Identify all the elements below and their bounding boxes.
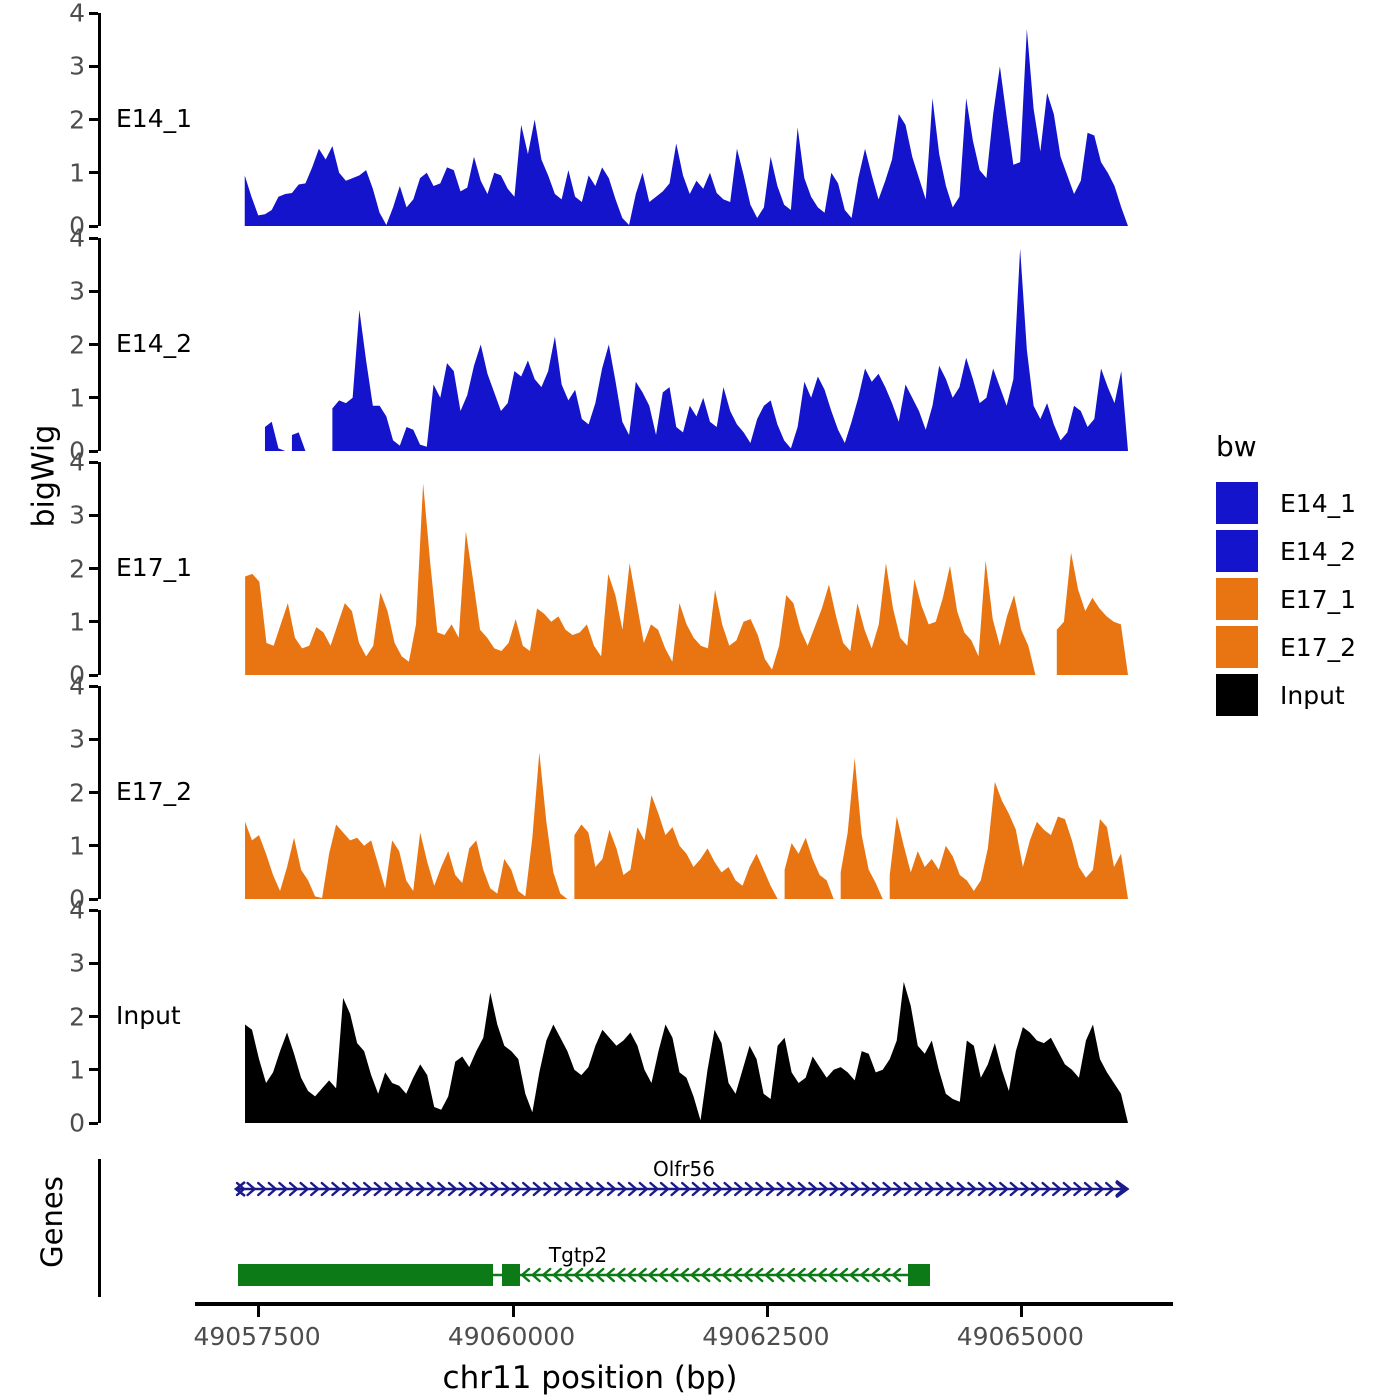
- y-axis-label: bigWig: [27, 468, 62, 528]
- legend-item-label: Input: [1280, 681, 1345, 710]
- y-tick: [89, 962, 98, 965]
- legend-color-swatch: [1216, 482, 1258, 524]
- y-tick: [89, 738, 98, 741]
- y-tick-label: 2: [69, 1002, 85, 1031]
- wig-area-e17_2: [98, 686, 1172, 899]
- legend-item-e17_1[interactable]: E17_1: [1216, 575, 1396, 623]
- y-tick: [89, 65, 98, 68]
- bigwig-track-input: 01234Input: [98, 910, 1172, 1123]
- y-tick-label: 4: [69, 896, 85, 925]
- x-axis-line: [195, 1302, 1173, 1306]
- y-tick-label: 1: [69, 1055, 85, 1084]
- legend-color-swatch: [1216, 530, 1258, 572]
- y-tick-label: 1: [69, 383, 85, 412]
- y-tick-label: 4: [69, 224, 85, 253]
- bigwig-track-e17_2: 01234E17_2: [98, 686, 1172, 899]
- y-tick: [89, 620, 98, 623]
- x-axis-title: chr11 position (bp): [0, 1360, 1180, 1396]
- legend-item-e14_1[interactable]: E14_1: [1216, 479, 1396, 527]
- legend-item-label: E17_1: [1280, 585, 1356, 614]
- y-tick-label: 1: [69, 607, 85, 636]
- y-tick-label: 4: [69, 0, 85, 28]
- legend-item-e14_2[interactable]: E14_2: [1216, 527, 1396, 575]
- x-tick: [257, 1306, 260, 1317]
- x-tick-label: 49057500: [193, 1322, 320, 1351]
- y-tick: [89, 674, 98, 677]
- wig-area-e14_2: [98, 238, 1172, 451]
- legend-item-label: E14_1: [1280, 489, 1356, 518]
- bigwig-track-e17_1: 01234E17_1: [98, 462, 1172, 675]
- y-tick: [89, 791, 98, 794]
- legend-item-input[interactable]: Input: [1216, 671, 1396, 719]
- genes-axis-label: Genes: [35, 1162, 69, 1282]
- y-tick-label: 4: [69, 448, 85, 477]
- genes-track-panel: Olfr56 Tgtp2: [98, 1159, 1172, 1304]
- gene-row-olfr56[interactable]: Olfr56: [98, 1171, 1172, 1215]
- y-tick: [89, 12, 98, 15]
- legend-color-swatch: [1216, 674, 1258, 716]
- y-tick: [89, 567, 98, 570]
- legend-item-label: E14_2: [1280, 537, 1356, 566]
- legend-rows: E14_1E14_2E17_1E17_2Input: [1216, 479, 1396, 719]
- y-tick-label: 1: [69, 158, 85, 187]
- y-tick: [89, 290, 98, 293]
- y-tick: [89, 1122, 98, 1125]
- wig-area-e14_1: [98, 13, 1172, 226]
- y-tick-label: 2: [69, 330, 85, 359]
- legend-color-swatch: [1216, 578, 1258, 620]
- wig-area-input: [98, 910, 1172, 1123]
- wig-area-e17_1: [98, 462, 1172, 675]
- y-tick-label: 2: [69, 554, 85, 583]
- legend-item-e17_2[interactable]: E17_2: [1216, 623, 1396, 671]
- bigwig-track-e14_2: 01234E14_2: [98, 238, 1172, 451]
- legend-color-swatch: [1216, 626, 1258, 668]
- x-tick: [512, 1306, 515, 1317]
- y-tick: [89, 118, 98, 121]
- y-tick-label: 4: [69, 672, 85, 701]
- x-tick: [1020, 1306, 1023, 1317]
- y-tick-label: 3: [69, 52, 85, 81]
- y-tick: [89, 685, 98, 688]
- legend: bw E14_1E14_2E17_1E17_2Input: [1216, 430, 1396, 719]
- legend-item-label: E17_2: [1280, 633, 1356, 662]
- y-tick: [89, 225, 98, 228]
- x-tick: [766, 1306, 769, 1317]
- y-tick: [89, 1015, 98, 1018]
- y-tick: [89, 171, 98, 174]
- y-tick: [89, 844, 98, 847]
- x-tick-label: 49060000: [448, 1322, 575, 1351]
- y-tick: [89, 396, 98, 399]
- bigwig-track-e14_1: 01234E14_1: [98, 13, 1172, 226]
- y-tick-label: 0: [69, 1109, 85, 1138]
- x-tick-label: 49062500: [702, 1322, 829, 1351]
- x-tick-label: 49065000: [957, 1322, 1084, 1351]
- gene-glyph-olfr56: [98, 1171, 1172, 1205]
- y-tick: [89, 461, 98, 464]
- gene-glyph-tgtp2: [98, 1257, 1172, 1291]
- y-tick-label: 3: [69, 277, 85, 306]
- y-tick-label: 3: [69, 725, 85, 754]
- y-tick-label: 2: [69, 105, 85, 134]
- y-tick: [89, 237, 98, 240]
- y-tick: [89, 909, 98, 912]
- y-tick-label: 3: [69, 949, 85, 978]
- y-tick: [89, 1068, 98, 1071]
- y-tick: [89, 514, 98, 517]
- gene-row-tgtp2[interactable]: Tgtp2: [98, 1257, 1172, 1301]
- y-tick: [89, 450, 98, 453]
- y-tick-label: 1: [69, 831, 85, 860]
- y-tick-label: 2: [69, 778, 85, 807]
- y-tick-label: 3: [69, 501, 85, 530]
- y-tick: [89, 898, 98, 901]
- y-tick: [89, 343, 98, 346]
- legend-title: bw: [1216, 430, 1396, 463]
